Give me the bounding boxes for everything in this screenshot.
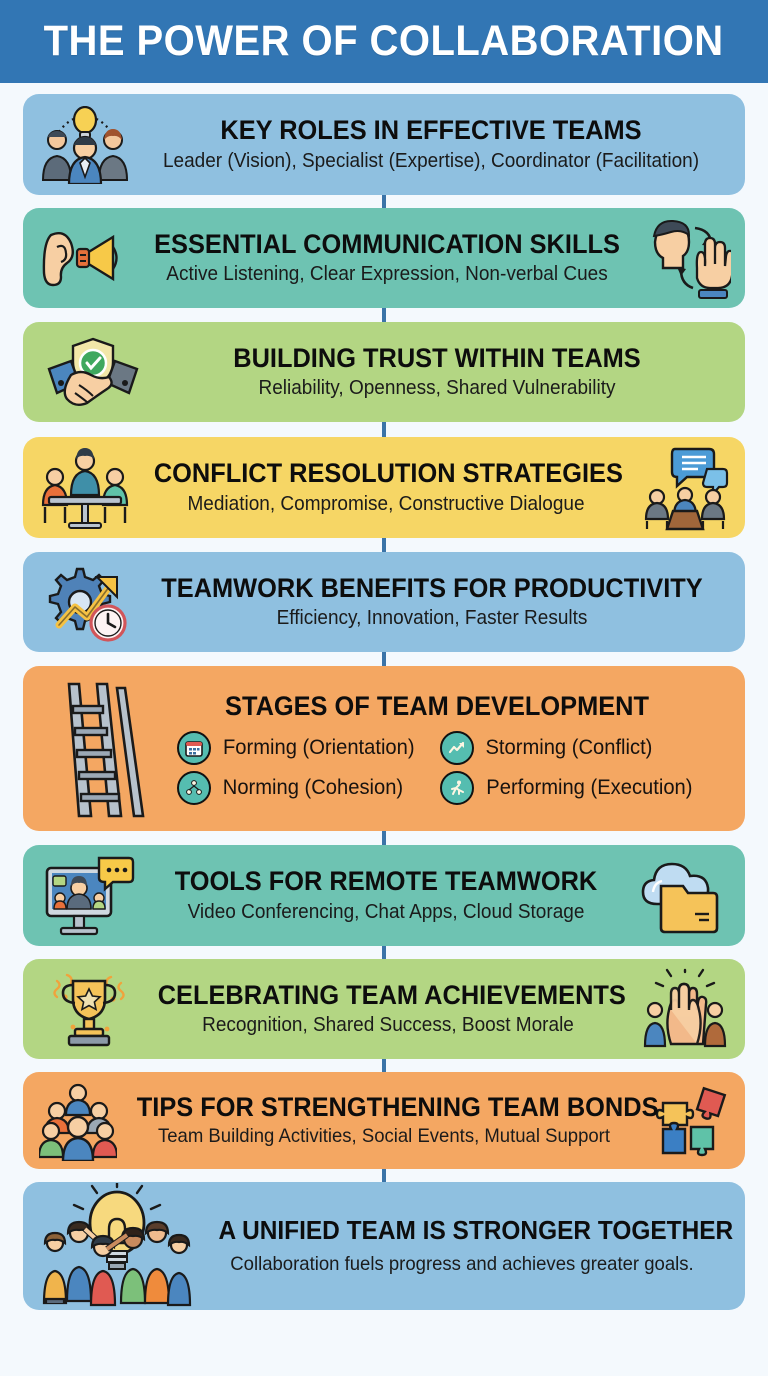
stage-item-norming[interactable]: Norming (Cohesion) [177, 771, 419, 805]
row-stages-of-development[interactable]: STAGES OF TEAM DEVELOPMENT Forming (Orie… [23, 666, 745, 831]
row-building-trust-text: BUILDING TRUST WITHIN TEAMS Reliability,… [145, 344, 729, 400]
ear-megaphone-icon [37, 227, 133, 289]
row-remote-tools-subtitle: Video Conferencing, Chat Apps, Cloud Sto… [155, 900, 617, 924]
stage-label-performing: Performing (Execution) [487, 776, 693, 800]
stage-label-storming: Storming (Conflict) [486, 736, 653, 760]
row-unified-team[interactable]: A UNIFIED TEAM IS STRONGER TOGETHER Coll… [23, 1182, 745, 1310]
hierarchy-icon [177, 771, 211, 805]
row-wrap-teamwork-benefits: TEAMWORK BENEFITS FOR PRODUCTIVITY Effic… [23, 552, 745, 652]
row-unified-team-title: A UNIFIED TEAM IS STRONGER TOGETHER [219, 1216, 706, 1244]
row-remote-tools[interactable]: TOOLS FOR REMOTE TEAMWORK Video Conferen… [23, 845, 745, 946]
stage-label-norming: Norming (Cohesion) [223, 776, 403, 800]
row-wrap-key-roles: KEY ROLES IN EFFECTIVE TEAMS Leader (Vis… [23, 94, 745, 195]
row-strengthening-bonds[interactable]: TIPS FOR STRENGTHENING TEAM BONDS Team B… [23, 1072, 745, 1169]
row-stages-of-development-text: STAGES OF TEAM DEVELOPMENT Forming (Orie… [153, 692, 725, 805]
row-key-roles-text: KEY ROLES IN EFFECTIVE TEAMS Leader (Vis… [133, 116, 729, 172]
trophy-icon [41, 969, 137, 1049]
row-key-roles[interactable]: KEY ROLES IN EFFECTIVE TEAMS Leader (Vis… [23, 94, 745, 195]
row-conflict-resolution-subtitle: Mediation, Compromise, Constructive Dial… [151, 492, 620, 516]
row-communication-skills-subtitle: Active Listening, Clear Expression, Non-… [151, 262, 622, 286]
row-remote-tools-title: TOOLS FOR REMOTE TEAMWORK [158, 867, 615, 896]
page-header: THE POWER OF COLLABORATION [0, 0, 768, 83]
connector-line [382, 195, 386, 208]
connector-line [382, 422, 386, 437]
connector-line [382, 538, 386, 552]
connector-line [382, 1059, 386, 1072]
row-teamwork-benefits[interactable]: TEAMWORK BENEFITS FOR PRODUCTIVITY Effic… [23, 552, 745, 652]
people-group-icon [37, 1081, 119, 1161]
stage-item-forming[interactable]: Forming (Orientation) [177, 731, 419, 765]
row-wrap-building-trust: BUILDING TRUST WITHIN TEAMS Reliability,… [23, 322, 745, 422]
row-communication-skills-title: ESSENTIAL COMMUNICATION SKILLS [154, 230, 620, 259]
ladder-icon [41, 678, 153, 820]
running-person-icon [440, 771, 474, 805]
gear-growth-clock-icon [39, 561, 135, 643]
row-communication-skills[interactable]: ESSENTIAL COMMUNICATION SKILLS Active Li… [23, 208, 745, 308]
row-celebrating-achievements-title: CELEBRATING TEAM ACHIEVEMENTS [158, 981, 619, 1010]
connector-line [382, 946, 386, 959]
head-hand-gesture-icon [641, 216, 733, 300]
row-celebrating-achievements-subtitle: Recognition, Shared Success, Boost Moral… [155, 1013, 621, 1037]
row-building-trust-title: BUILDING TRUST WITHIN TEAMS [168, 344, 706, 373]
page-title: THE POWER OF COLLABORATION [44, 17, 724, 66]
calendar-icon [177, 731, 211, 765]
trend-arrow-icon [440, 731, 474, 765]
row-stages-of-development-title: STAGES OF TEAM DEVELOPMENT [176, 692, 699, 721]
row-wrap-communication-skills: ESSENTIAL COMMUNICATION SKILLS Active Li… [23, 208, 745, 308]
row-teamwork-benefits-subtitle: Efficiency, Innovation, Faster Results [156, 606, 709, 630]
row-remote-tools-text: TOOLS FOR REMOTE TEAMWORK Video Conferen… [137, 867, 635, 923]
row-key-roles-subtitle: Leader (Vision), Specialist (Expertise),… [154, 149, 709, 173]
high-five-icon [639, 968, 731, 1050]
team-lightbulb-icon [37, 106, 133, 184]
row-strengthening-bonds-text: TIPS FOR STRENGTHENING TEAM BONDS Team B… [119, 1093, 649, 1149]
row-unified-team-text: A UNIFIED TEAM IS STRONGER TOGETHER Coll… [197, 1216, 727, 1276]
connector-line [382, 652, 386, 666]
row-wrap-remote-tools: TOOLS FOR REMOTE TEAMWORK Video Conferen… [23, 845, 745, 946]
row-wrap-stages-of-development: STAGES OF TEAM DEVELOPMENT Forming (Orie… [23, 666, 745, 831]
rows-container: KEY ROLES IN EFFECTIVE TEAMS Leader (Vis… [0, 83, 768, 1324]
row-building-trust-subtitle: Reliability, Openness, Shared Vulnerabil… [165, 376, 708, 400]
stage-item-performing[interactable]: Performing (Execution) [440, 771, 697, 805]
stage-item-storming[interactable]: Storming (Conflict) [440, 731, 697, 765]
row-conflict-resolution-title: CONFLICT RESOLUTION STRATEGIES [154, 459, 618, 488]
row-celebrating-achievements-text: CELEBRATING TEAM ACHIEVEMENTS Recognitio… [137, 981, 639, 1037]
row-strengthening-bonds-subtitle: Team Building Activities, Social Events,… [134, 1125, 634, 1148]
row-wrap-unified-team: A UNIFIED TEAM IS STRONGER TOGETHER Coll… [23, 1182, 745, 1310]
row-building-trust[interactable]: BUILDING TRUST WITHIN TEAMS Reliability,… [23, 322, 745, 422]
handshake-shield-icon [41, 335, 145, 409]
row-teamwork-benefits-title: TEAMWORK BENEFITS FOR PRODUCTIVITY [158, 574, 705, 603]
stage-label-forming: Forming (Orientation) [223, 736, 415, 760]
stages-grid: Forming (Orientation) Storming (Conflict… [159, 731, 715, 805]
infographic-page: THE POWER OF COLLABORATION [0, 0, 768, 1376]
row-conflict-resolution[interactable]: CONFLICT RESOLUTION STRATEGIES Mediation… [23, 437, 745, 538]
connector-line [382, 831, 386, 845]
row-communication-skills-text: ESSENTIAL COMMUNICATION SKILLS Active Li… [133, 230, 641, 286]
row-conflict-resolution-text: CONFLICT RESOLUTION STRATEGIES Mediation… [133, 459, 639, 515]
row-key-roles-title: KEY ROLES IN EFFECTIVE TEAMS [157, 116, 706, 145]
connector-line [382, 1169, 386, 1182]
meeting-table-icon [37, 447, 133, 529]
row-celebrating-achievements[interactable]: CELEBRATING TEAM ACHIEVEMENTS Recognitio… [23, 959, 745, 1059]
row-teamwork-benefits-text: TEAMWORK BENEFITS FOR PRODUCTIVITY Effic… [135, 574, 729, 630]
row-wrap-strengthening-bonds: TIPS FOR STRENGTHENING TEAM BONDS Team B… [23, 1072, 745, 1169]
discussion-bubbles-icon [639, 445, 731, 531]
video-call-monitor-icon [39, 854, 137, 938]
group-lightbulb-icon [37, 1183, 197, 1309]
row-unified-team-subtitle: Collaboration fuels progress and achieve… [216, 1253, 708, 1276]
cloud-folder-icon [635, 858, 727, 934]
connector-line [382, 308, 386, 322]
puzzle-pieces-icon [649, 1081, 735, 1161]
row-wrap-celebrating-achievements: CELEBRATING TEAM ACHIEVEMENTS Recognitio… [23, 959, 745, 1059]
row-wrap-conflict-resolution: CONFLICT RESOLUTION STRATEGIES Mediation… [23, 437, 745, 538]
row-strengthening-bonds-title: TIPS FOR STRENGTHENING TEAM BONDS [137, 1093, 631, 1122]
